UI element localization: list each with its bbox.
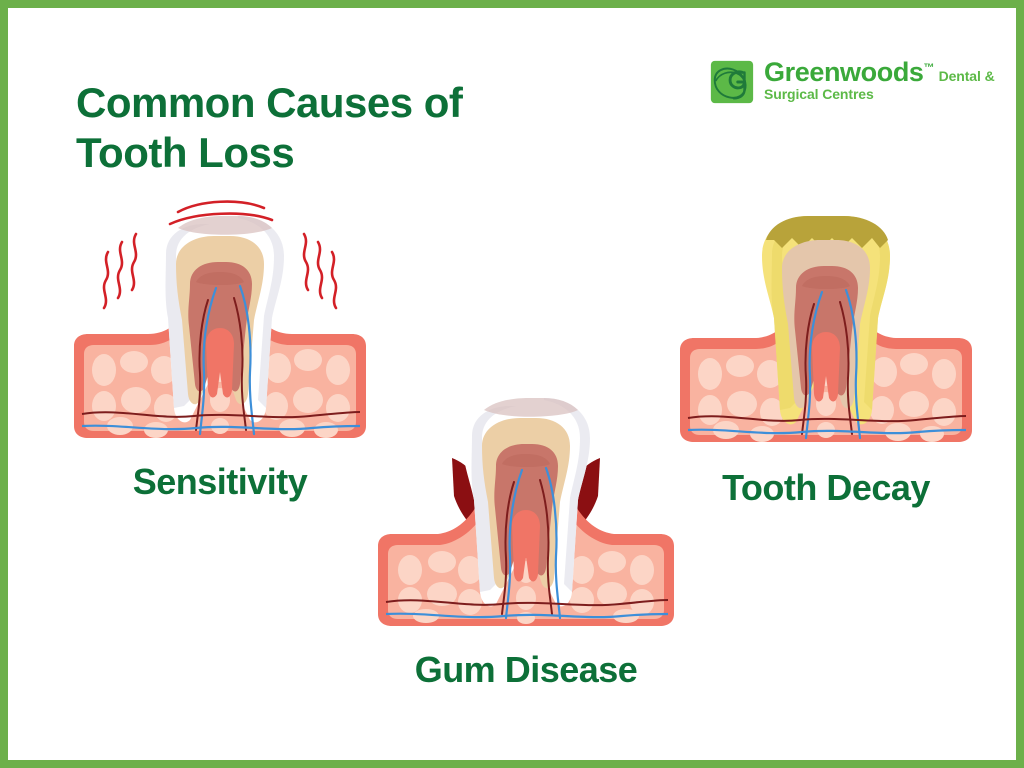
logo-trademark: ™	[924, 62, 935, 74]
figure-tooth-decay: Tooth Decay	[666, 198, 986, 506]
figure-label-gum-disease: Gum Disease	[356, 652, 696, 688]
figure-label-tooth-decay: Tooth Decay	[666, 470, 986, 506]
greenwoods-logo: Greenwoods™ Dental & Surgical Centres	[708, 58, 1016, 106]
figure-sensitivity: Sensitivity	[60, 194, 380, 500]
page-title: Common Causes of Tooth Loss	[76, 78, 596, 177]
figure-gum-disease: Gum Disease	[356, 380, 696, 688]
figure-label-sensitivity: Sensitivity	[60, 464, 380, 500]
logo-wordmark: Greenwoods™	[764, 59, 934, 86]
sensitivity-tooth-illustration-icon	[60, 194, 380, 444]
tooth-decay-tooth-illustration-icon	[666, 198, 986, 448]
greenwoods-g-leaf-mark-icon	[708, 58, 756, 106]
gum-disease-tooth-illustration-icon	[356, 380, 696, 630]
logo-text-block: Greenwoods™ Dental & Surgical Centres	[764, 58, 1016, 104]
infographic-poster: Common Causes of Tooth Loss Greenwoods™ …	[0, 0, 1024, 768]
logo-wordmark-text: Greenwoods	[764, 57, 924, 87]
